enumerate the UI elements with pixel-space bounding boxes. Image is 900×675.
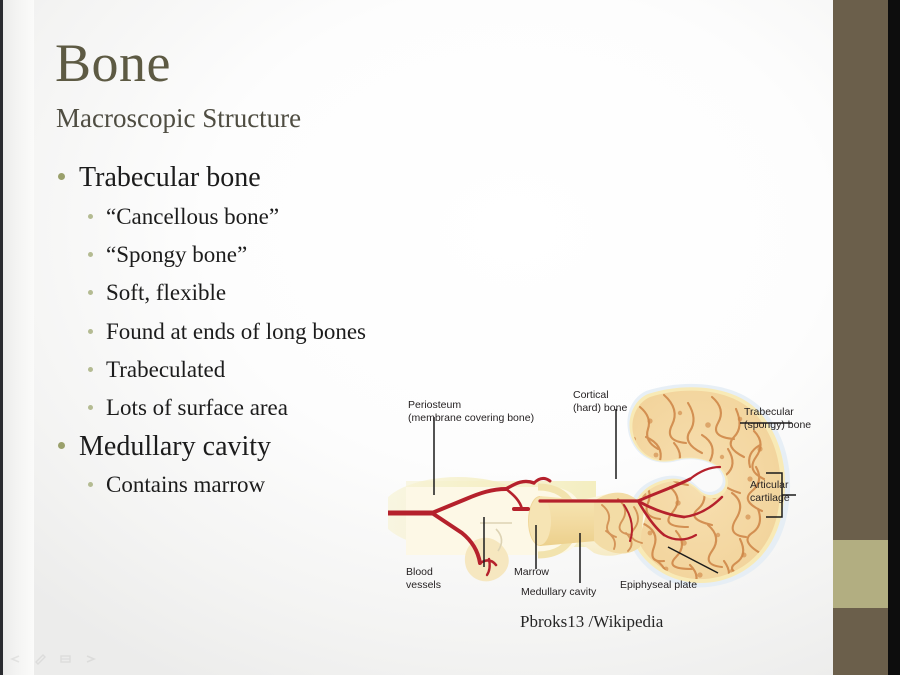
image-credit: Pbroks13 /Wikipedia	[520, 612, 663, 632]
bullet-marker-icon	[88, 214, 93, 219]
bullet-text: “Spongy bone”	[106, 237, 247, 273]
bullet-item: “Cancellous bone”	[88, 199, 578, 235]
diagram-label-marrow: Marrow	[514, 566, 549, 579]
bullet-marker-icon	[88, 482, 93, 487]
screen-right-edge	[888, 0, 900, 675]
next-slide-icon[interactable]	[83, 652, 98, 664]
bullet-item: “Spongy bone”	[88, 237, 578, 273]
bullet-text: Found at ends of long bones	[106, 314, 366, 350]
bullet-marker-icon	[88, 329, 93, 334]
decorative-sidebar-accent	[833, 540, 888, 608]
page-subtitle: Macroscopic Structure	[56, 105, 301, 132]
pen-icon[interactable]	[33, 652, 48, 664]
bullet-marker-icon	[58, 173, 65, 180]
bullet-text: “Cancellous bone”	[106, 199, 279, 235]
bullet-text: Medullary cavity	[79, 429, 271, 466]
bullet-marker-icon	[88, 367, 93, 372]
bullet-text: Trabecular bone	[79, 160, 261, 197]
bone-diagram: Periosteum (membrane covering bone) Cort…	[388, 383, 833, 643]
bullet-text: Soft, flexible	[106, 275, 226, 311]
bullet-marker-icon	[88, 405, 93, 410]
slideshow-controls[interactable]	[8, 652, 98, 664]
bullet-marker-icon	[88, 252, 93, 257]
presentation-slide[interactable]: Bone Macroscopic Structure Trabecular bo…	[0, 0, 833, 675]
diagram-label-medullary-cavity: Medullary cavity	[521, 586, 596, 599]
bullet-marker-icon	[58, 442, 65, 449]
bullet-text: Trabeculated	[106, 352, 225, 388]
menu-icon[interactable]	[58, 652, 73, 664]
page-title: Bone	[55, 36, 171, 90]
bullet-item: Found at ends of long bones	[88, 314, 578, 350]
bullet-item: Trabecular bone	[58, 160, 578, 197]
bullet-text: Lots of surface area	[106, 390, 288, 426]
slideshow-screen: Bone Macroscopic Structure Trabecular bo…	[0, 0, 900, 675]
diagram-label-cortical-bone: Cortical (hard) bone	[573, 389, 627, 415]
slide-left-edge	[0, 0, 3, 675]
diagram-label-blood-vessels: Blood vessels	[406, 566, 441, 592]
previous-slide-icon[interactable]	[8, 652, 23, 664]
bullet-text: Contains marrow	[106, 467, 265, 503]
diagram-label-periosteum: Periosteum (membrane covering bone)	[408, 399, 534, 425]
diagram-label-epiphyseal-plate: Epiphyseal plate	[620, 579, 697, 592]
diagram-label-trabecular-bone: Trabecular (spongy) bone	[744, 406, 811, 432]
diagram-label-articular-cartilage: Articular cartilage	[750, 479, 790, 505]
bullet-item: Soft, flexible	[88, 275, 578, 311]
bullet-marker-icon	[88, 290, 93, 295]
